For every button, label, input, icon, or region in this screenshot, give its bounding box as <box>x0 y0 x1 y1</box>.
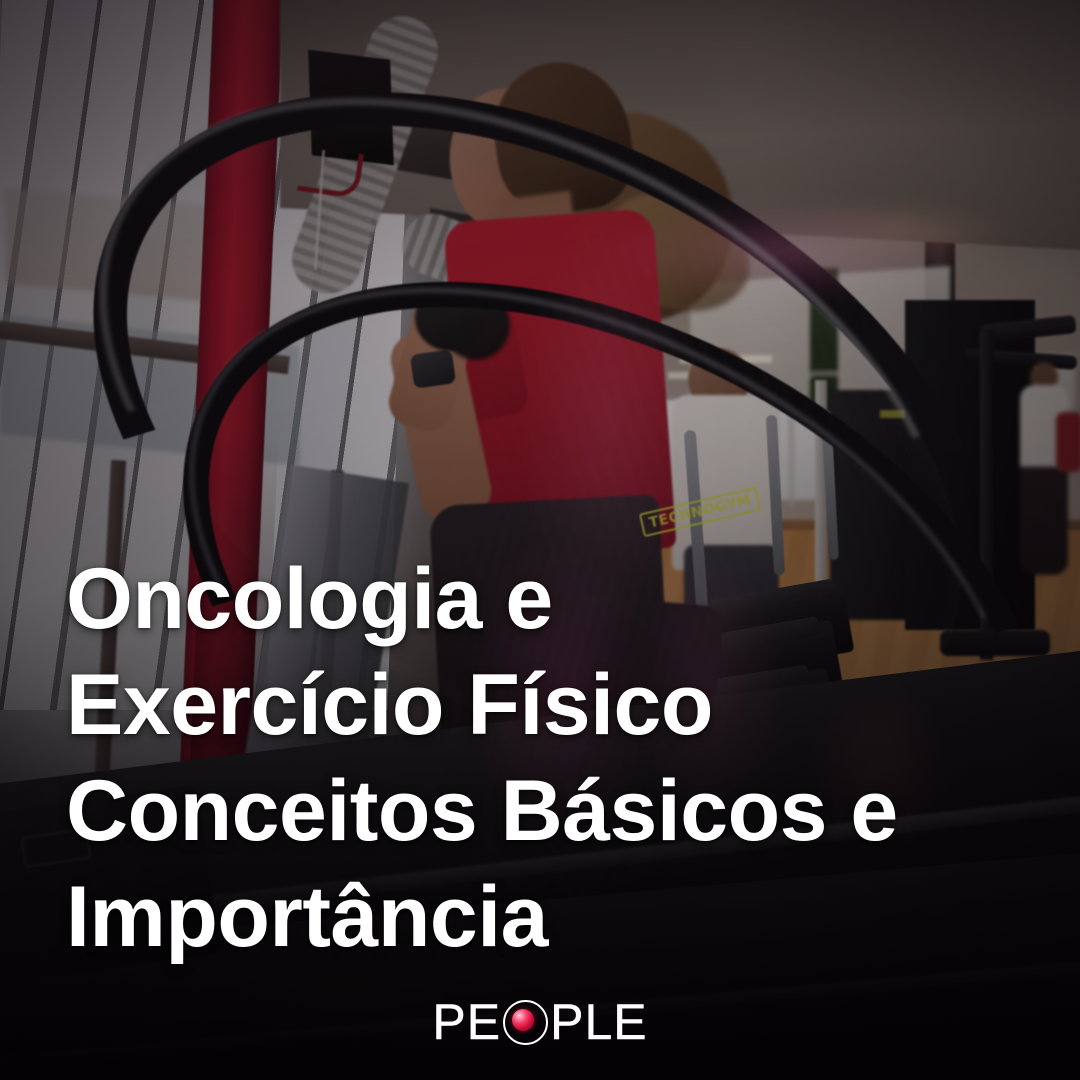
logo-red-sphere-icon <box>512 1009 534 1031</box>
people-logo: PE PLE <box>0 995 1080 1049</box>
logo-text-after-o: PLE <box>550 997 648 1047</box>
logo-wordmark: PE PLE <box>432 997 647 1047</box>
title-line-3: Conceitos Básicos e <box>66 758 996 864</box>
page-title: Oncologia e Exercício Físico Conceitos B… <box>66 546 996 970</box>
title-line-4: Importância <box>66 864 996 970</box>
poster-canvas: TECHNOGYM Oncologia e Exercício Físico C… <box>0 0 1080 1080</box>
logo-text-before-o: PE <box>432 997 501 1047</box>
title-line-2: Exercício Físico <box>66 652 996 758</box>
title-line-1: Oncologia e <box>66 546 996 652</box>
logo-o-ring-icon <box>503 1000 548 1045</box>
